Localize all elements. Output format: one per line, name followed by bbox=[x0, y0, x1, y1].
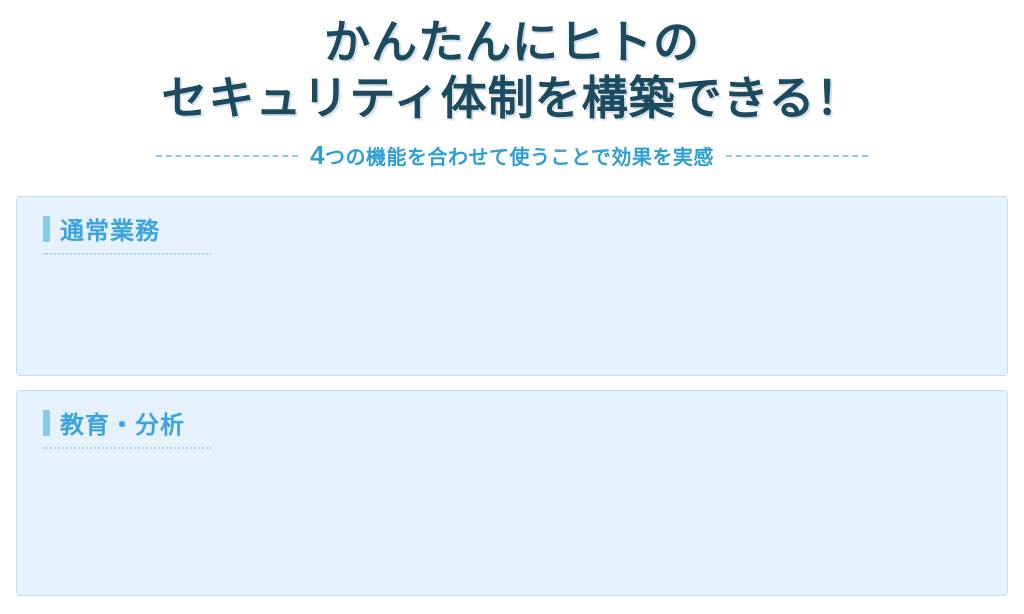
panel-normal-work: 通常業務 bbox=[16, 196, 1008, 376]
heading-dotted-rule bbox=[43, 447, 211, 449]
title-block: かんたんにヒトの セキュリティ体制を構築できる！ 4つの機能を合わせて使うことで… bbox=[0, 14, 1024, 171]
section-title-education-analysis: 教育・分析 bbox=[60, 405, 185, 440]
subtitle-number: 4 bbox=[310, 140, 325, 170]
section-title-normal-work: 通常業務 bbox=[60, 211, 160, 246]
dashed-rule-right bbox=[726, 155, 868, 157]
subtitle-row: 4つの機能を合わせて使うことで効果を実感 bbox=[0, 140, 1024, 171]
subtitle-text: つの機能を合わせて使うことで効果を実感 bbox=[325, 147, 714, 169]
heading-accent-bar-icon bbox=[43, 410, 50, 436]
dashed-rule-left bbox=[156, 155, 298, 157]
page-title-line-1: かんたんにヒトの bbox=[0, 14, 1024, 70]
page-subtitle: 4つの機能を合わせて使うことで効果を実感 bbox=[310, 140, 714, 171]
heading-dotted-rule bbox=[43, 253, 211, 255]
section-heading-normal-work: 通常業務 bbox=[43, 211, 211, 255]
infographic-page: かんたんにヒトの セキュリティ体制を構築できる！ 4つの機能を合わせて使うことで… bbox=[0, 0, 1024, 614]
section-heading-education-analysis: 教育・分析 bbox=[43, 405, 211, 449]
heading-accent-bar-icon bbox=[43, 216, 50, 242]
panel-education-analysis: 教育・分析 bbox=[16, 390, 1008, 596]
page-title-line-2: セキュリティ体制を構築できる！ bbox=[0, 70, 1024, 126]
